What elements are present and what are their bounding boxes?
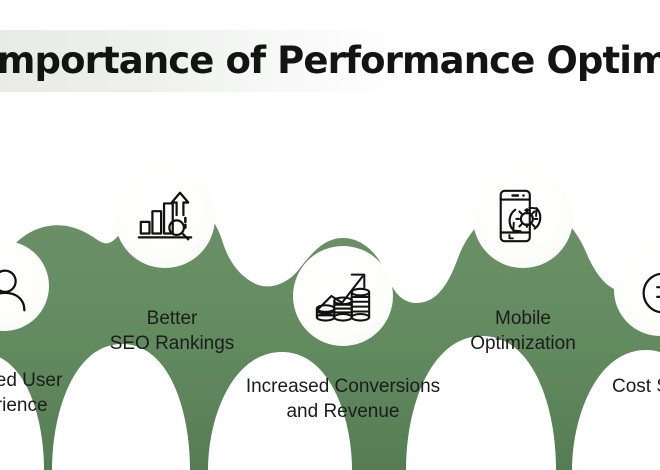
coin-stack-growth-icon <box>312 264 374 326</box>
node-label-improved-user-experience: Improved User Experience <box>0 368 90 418</box>
savings-icon <box>632 262 660 324</box>
node-label-mobile-optimization: Mobile Optimization <box>420 306 626 356</box>
mobile-gear-icon <box>492 186 554 248</box>
node-label-increased-conversions-and-revenue: Increased Conversions and Revenue <box>208 374 478 424</box>
user-experience-icon <box>0 258 36 320</box>
infographic-canvas: Importance of Performance Optimization <box>0 0 660 470</box>
node-label-cost-savings: Cost Savings <box>612 374 660 399</box>
seo-growth-chart-icon <box>134 186 196 248</box>
node-label-better-seo-rankings: Better SEO Rankings <box>62 306 282 356</box>
